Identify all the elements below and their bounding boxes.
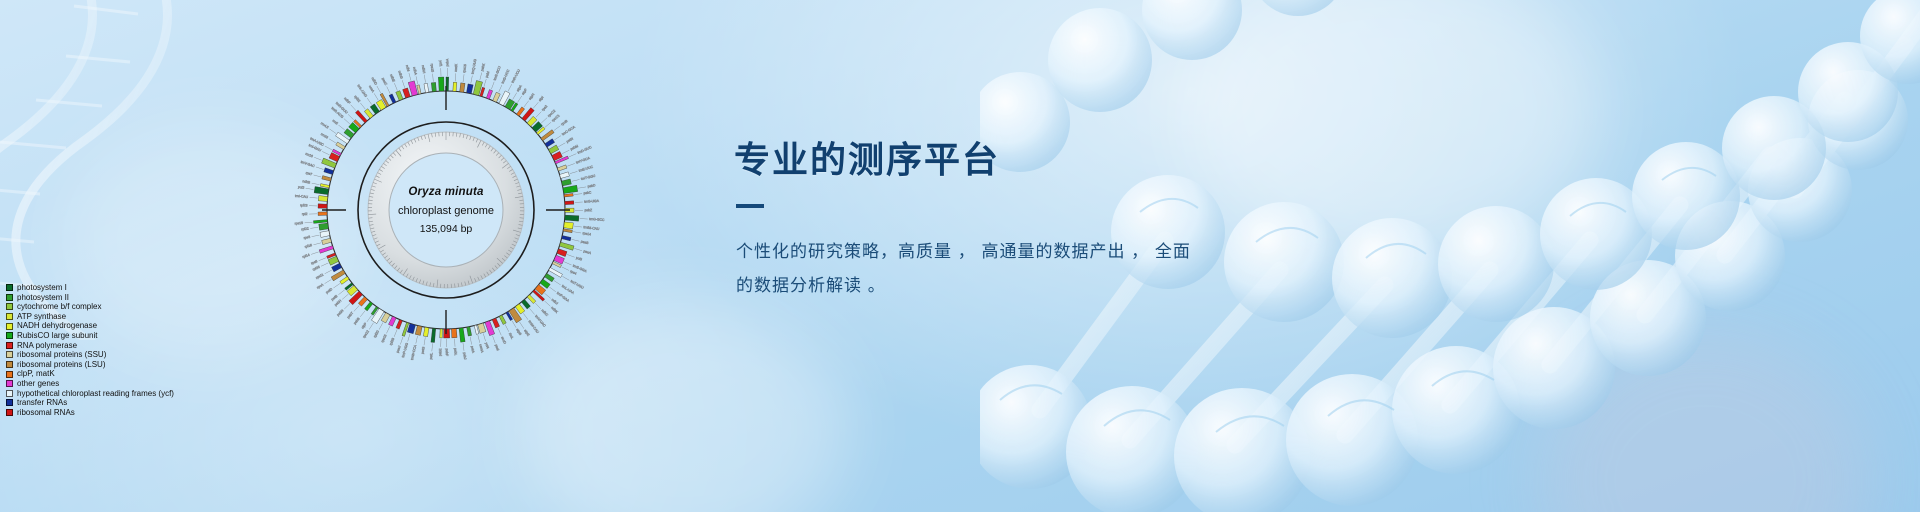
legend-item: transfer RNAs [6,398,174,408]
legend-item-label: clpP, matK [17,369,55,379]
legend-item-label: RNA polymerase [17,341,77,351]
legend-color-swatch [6,361,13,368]
genome-legend: photosystem Iphotosystem IIcytochrome b/… [6,283,174,417]
hero-copy: 专业的测序平台 个性化的研究策略，高质量 ， 高通量的数据产出 ， 全面 的数据… [734,138,1434,303]
hero-subtitle-line-1: 个性化的研究策略，高质量 ， 高通量的数据产出 ， 全面 [736,235,1276,269]
legend-item: ribosomal proteins (LSU) [6,360,174,370]
page-title: 专业的测序平台 [734,138,1434,182]
legend-color-swatch [6,332,13,339]
legend-item: ATP synthase [6,312,174,322]
legend-item: RubisCO large subunit [6,331,174,341]
legend-color-swatch [6,313,13,320]
legend-item-label: other genes [17,379,59,389]
legend-color-swatch [6,409,13,416]
legend-color-swatch [6,399,13,406]
species-name: Oryza minuta [408,186,483,198]
legend-color-swatch [6,323,13,330]
legend-item-label: cytochrome b/f complex [17,302,101,312]
legend-item-label: ribosomal proteins (LSU) [17,360,105,370]
legend-item: clpP, matK [6,369,174,379]
chloroplast-genome-map: psbAmatKrps16trnQ-UUGpsbKpsbItrnS-GCUtrn… [246,10,646,410]
legend-color-swatch [6,351,13,358]
genome-length: 135,094 bp [420,223,473,235]
hero-subtitle-line-2: 的数据分析解读 。 [736,269,1276,303]
legend-item: cytochrome b/f complex [6,302,174,312]
legend-color-swatch [6,294,13,301]
legend-item-label: NADH dehydrogenase [17,321,97,331]
legend-item-label: hypothetical chloroplast reading frames … [17,389,174,399]
legend-item: NADH dehydrogenase [6,321,174,331]
sequencing-platform-banner: psbAmatKrps16trnQ-UUGpsbKpsbItrnS-GCUtrn… [0,0,1920,512]
legend-color-swatch [6,371,13,378]
legend-item: RNA polymerase [6,341,174,351]
legend-item: photosystem II [6,293,174,303]
legend-item: ribosomal RNAs [6,408,174,418]
legend-color-swatch [6,342,13,349]
legend-item-label: transfer RNAs [17,398,67,408]
title-divider [736,204,764,208]
legend-color-swatch [6,390,13,397]
legend-color-swatch [6,303,13,310]
legend-color-swatch [6,284,13,291]
hero-subtitle: 个性化的研究策略，高质量 ， 高通量的数据产出 ， 全面 的数据分析解读 。 [736,235,1276,303]
legend-item: other genes [6,379,174,389]
organelle-name: chloroplast genome [398,205,494,217]
genome-center-caption: Oryza minuta chloroplast genome 135,094 … [246,10,646,410]
legend-item-label: ATP synthase [17,312,66,322]
light-blob [1540,330,1870,512]
legend-item-label: photosystem I [17,283,67,293]
legend-item-label: photosystem II [17,293,69,303]
legend-item-label: ribosomal RNAs [17,408,75,418]
legend-item: hypothetical chloroplast reading frames … [6,389,174,399]
legend-item-label: ribosomal proteins (SSU) [17,350,106,360]
legend-item: photosystem I [6,283,174,293]
legend-item: ribosomal proteins (SSU) [6,350,174,360]
legend-item-label: RubisCO large subunit [17,331,97,341]
legend-color-swatch [6,380,13,387]
